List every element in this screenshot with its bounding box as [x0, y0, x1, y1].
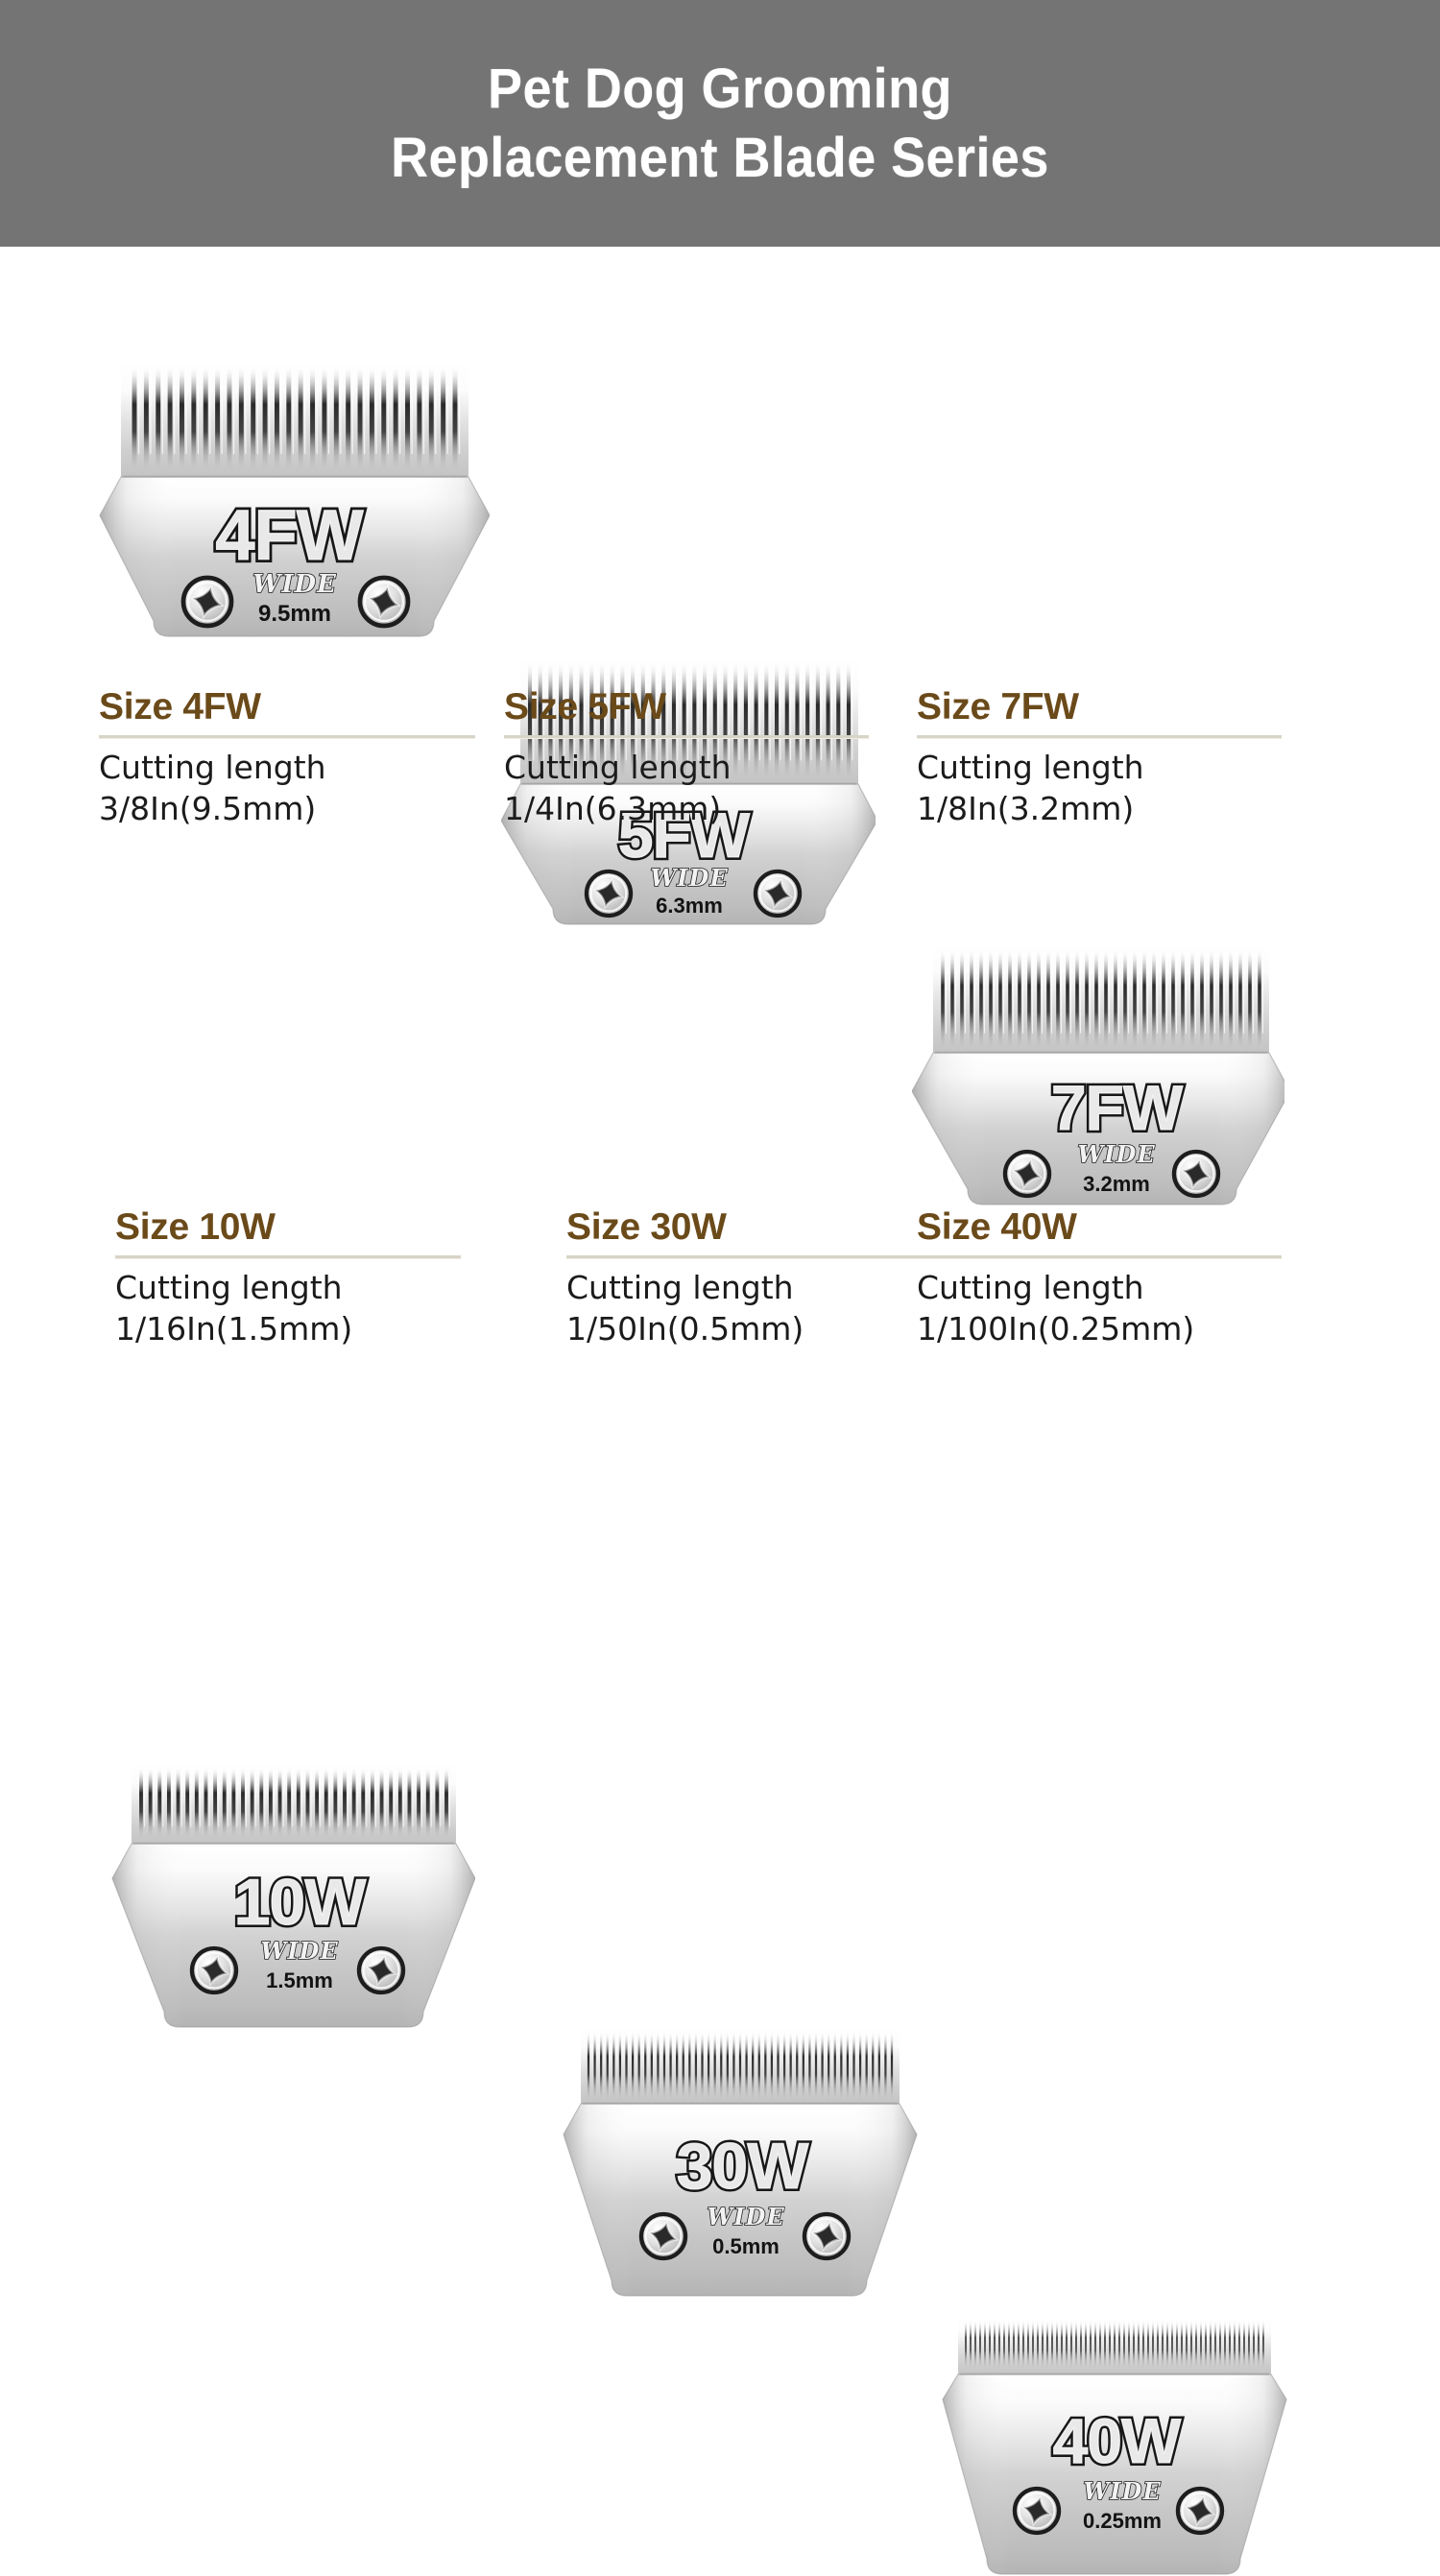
- caption-cutting-length-label: Cutting length: [504, 747, 869, 788]
- header-banner: Pet Dog Grooming Replacement Blade Serie…: [0, 0, 1440, 247]
- caption-title: Size 40W: [917, 1206, 1282, 1249]
- svg-text:WIDE: WIDE: [707, 2203, 784, 2230]
- caption-cutting-length-value: 1/16In(1.5mm): [115, 1308, 461, 1349]
- banner-title-line-1: Pet Dog Grooming: [51, 55, 1390, 124]
- svg-text:9.5mm: 9.5mm: [258, 601, 331, 627]
- svg-text:WIDE: WIDE: [260, 1937, 338, 1965]
- caption-cutting-length-value: 1/100In(0.25mm): [917, 1308, 1282, 1349]
- caption-title: Size 10W: [115, 1206, 461, 1249]
- svg-text:6.3mm: 6.3mm: [656, 894, 723, 918]
- caption-divider: [115, 1255, 461, 1258]
- blade-image-30w: 30W30WWIDE0.5mm: [562, 2019, 926, 2298]
- blade-image-7fw: 7FW7FWWIDE3.2mm: [912, 936, 1284, 1206]
- product-caption-30w: Size 30WCutting length1/50In(0.5mm): [566, 1206, 929, 1349]
- product-caption-4fw: Size 4FWCutting length3/8In(9.5mm): [99, 686, 475, 829]
- product-grid: 4FW4FWWIDE9.5mmSize 4FWCutting length3/8…: [0, 247, 1440, 1351]
- banner-text-block: Pet Dog Grooming Replacement Blade Serie…: [0, 55, 1440, 193]
- caption-divider: [504, 735, 869, 738]
- product-caption-7fw: Size 7FWCutting length1/8In(3.2mm): [917, 686, 1282, 829]
- svg-text:0.5mm: 0.5mm: [712, 2234, 780, 2258]
- svg-text:WIDE: WIDE: [650, 864, 728, 892]
- svg-text:7FW: 7FW: [1051, 1072, 1184, 1143]
- caption-cutting-length-value: 3/8In(9.5mm): [99, 788, 475, 829]
- svg-text:30W: 30W: [677, 2130, 810, 2203]
- caption-divider: [917, 735, 1282, 738]
- caption-divider: [917, 1255, 1282, 1258]
- caption-title: Size 4FW: [99, 686, 475, 728]
- svg-text:0.25mm: 0.25mm: [1083, 2509, 1162, 2533]
- caption-title: Size 5FW: [504, 686, 869, 728]
- caption-divider: [99, 735, 475, 738]
- caption-cutting-length-value: 1/50In(0.5mm): [566, 1308, 929, 1349]
- product-caption-10w: Size 10WCutting length1/16In(1.5mm): [115, 1206, 461, 1349]
- product-caption-5fw: Size 5FWCutting length1/4In(6.3mm): [504, 686, 869, 829]
- svg-text:4FW: 4FW: [215, 495, 363, 575]
- caption-cutting-length-label: Cutting length: [566, 1267, 929, 1308]
- svg-text:WIDE: WIDE: [1077, 1140, 1155, 1168]
- blade-image-10w: 10W10WWIDE1.5mm: [110, 1755, 475, 2029]
- caption-cutting-length-label: Cutting length: [917, 747, 1282, 788]
- svg-text:WIDE: WIDE: [1083, 2477, 1161, 2505]
- blade-image-40w: 40W40WWIDE0.25mm: [941, 2307, 1298, 2576]
- caption-title: Size 30W: [566, 1206, 929, 1249]
- svg-text:40W: 40W: [1053, 2405, 1182, 2476]
- svg-text:10W: 10W: [234, 1866, 368, 1939]
- caption-cutting-length-label: Cutting length: [99, 747, 475, 788]
- svg-text:3.2mm: 3.2mm: [1083, 1172, 1150, 1196]
- caption-cutting-length-value: 1/8In(3.2mm): [917, 788, 1282, 829]
- svg-text:WIDE: WIDE: [252, 570, 337, 599]
- caption-cutting-length-value: 1/4In(6.3mm): [504, 788, 869, 829]
- blade-image-4fw: 4FW4FWWIDE9.5mm: [96, 350, 490, 638]
- caption-divider: [566, 1255, 929, 1258]
- caption-cutting-length-label: Cutting length: [115, 1267, 461, 1308]
- caption-title: Size 7FW: [917, 686, 1282, 728]
- product-caption-40w: Size 40WCutting length1/100In(0.25mm): [917, 1206, 1282, 1349]
- caption-cutting-length-label: Cutting length: [917, 1267, 1282, 1308]
- banner-title-line-2: Replacement Blade Series: [51, 124, 1390, 193]
- svg-text:1.5mm: 1.5mm: [266, 1968, 333, 1992]
